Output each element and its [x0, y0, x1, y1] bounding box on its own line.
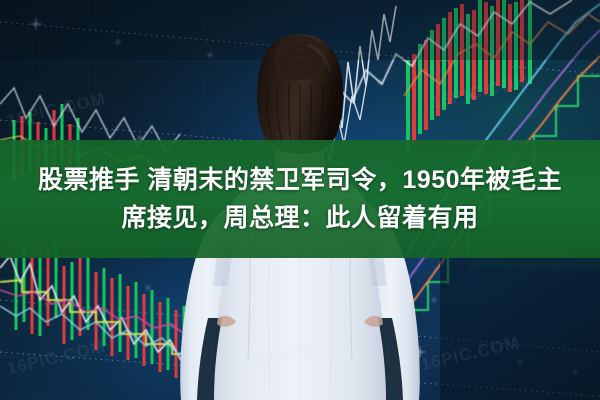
- caption-line-2: 席接见，周总理：此人留着有用: [121, 199, 478, 237]
- hair-bun: [274, 36, 326, 80]
- banner-image: 股票推手 清朝末的禁卫军司令，1950年被毛主 席接见，周总理：此人留着有用 1…: [0, 0, 600, 400]
- caption-line-1: 股票推手 清朝末的禁卫军司令，1950年被毛主: [38, 161, 562, 199]
- caption-band: 股票推手 清朝末的禁卫军司令，1950年被毛主 席接见，周总理：此人留着有用: [0, 140, 600, 258]
